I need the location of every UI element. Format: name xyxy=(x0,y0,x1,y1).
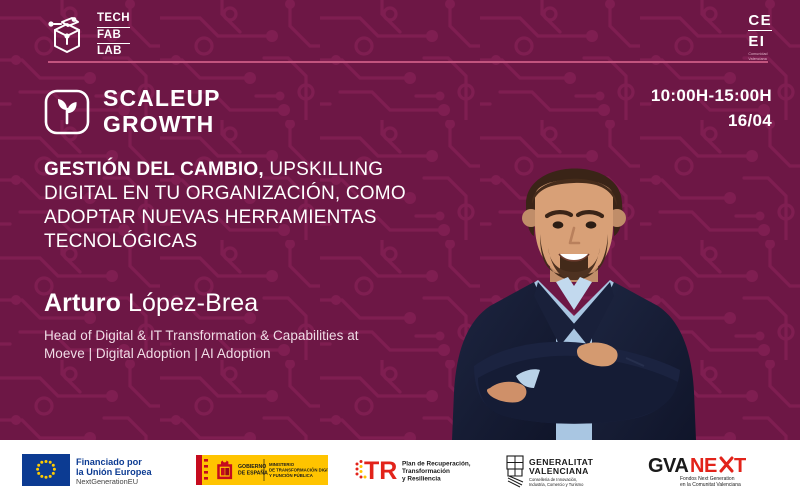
scaleup-growth-line-1: SCALEUP xyxy=(103,86,221,112)
eu-logo-line-2: la Unión Europea xyxy=(76,467,152,477)
speaker-first-name: Arturo xyxy=(44,289,121,317)
gva-next-mark-ne: NE xyxy=(690,455,717,477)
speaker-name: Arturo López-Brea xyxy=(44,288,434,318)
plan-recuperacion-line-1: Plan de Recuperación, xyxy=(402,461,471,468)
event-promo-banner: TECH FAB LAB CE EI Comunidad Valenciana xyxy=(0,0,800,500)
tech-fab-lab-wordmark: TECH FAB LAB xyxy=(97,12,130,59)
tech-fab-lab-box-icon xyxy=(44,14,90,58)
speaker-portrait xyxy=(430,130,720,440)
tech-fab-lab-logo: TECH FAB LAB xyxy=(44,12,130,59)
sprout-leaf-icon xyxy=(44,89,90,135)
plan-recuperacion-line-3: y Resiliencia xyxy=(402,476,441,483)
ministerio-line-3: Y FUNCIÓN PÚBLICA xyxy=(269,473,313,478)
gobierno-line-2: DE ESPAÑA xyxy=(238,470,268,477)
tech-fab-lab-line-3: LAB xyxy=(97,45,130,59)
tech-fab-lab-line-1: TECH xyxy=(97,12,130,26)
ceei-line-1: CE xyxy=(748,13,772,28)
tech-fab-lab-line-2: FAB xyxy=(97,27,130,44)
generalitat-sub-line-2: Industria, Comercio y Turismo xyxy=(529,482,584,487)
ceei-wordmark: CE EI xyxy=(748,13,772,49)
speaker-last-name: López-Brea xyxy=(121,289,258,317)
eu-logo-line-1: Financiado por xyxy=(76,457,142,467)
scaleup-growth-logo: SCALEUP GROWTH xyxy=(44,86,221,138)
header-divider-rule xyxy=(48,61,768,63)
talk-title-lead: GESTIÓN DEL CAMBIO, xyxy=(44,159,264,180)
banner-top-bar: TECH FAB LAB CE EI Comunidad Valenciana xyxy=(0,0,800,62)
speaker-role: Head of Digital & IT Transformation & Ca… xyxy=(44,327,374,364)
banner-copy-block: GESTIÓN DEL CAMBIO, UPSKILLING DIGITAL E… xyxy=(44,158,434,364)
scaleup-growth-wordmark: SCALEUP GROWTH xyxy=(103,86,221,138)
generalitat-crest-icon xyxy=(507,456,523,487)
generalitat-valenciana-logo: GENERALITAT VALENCIANA Conselleria de In… xyxy=(502,452,620,488)
gobierno-de-espana-logo: GOBIERNO DE ESPAÑA MINISTERIO DE TRANSFO… xyxy=(196,453,328,487)
ministerio-line-1: MINISTERIO xyxy=(269,462,295,467)
plan-recuperacion-line-2: Transformación xyxy=(402,468,450,475)
scaleup-growth-line-2: GROWTH xyxy=(103,112,221,138)
gva-next-sub-line-2: en la Comunitat Valenciana xyxy=(680,482,741,488)
event-schedule: 10:00H-15:00H 16/04 xyxy=(651,84,772,133)
gva-next-x-icon xyxy=(721,458,732,471)
ceei-logo: CE EI Comunidad Valenciana xyxy=(748,13,772,62)
talk-title: GESTIÓN DEL CAMBIO, UPSKILLING DIGITAL E… xyxy=(44,158,434,254)
plan-de-recuperacion-logo: TR Plan de Recuperación, Transformación … xyxy=(354,453,476,487)
plan-recuperacion-mark: TR xyxy=(364,457,397,485)
generalitat-line-2: VALENCIANA xyxy=(529,466,589,476)
ministerio-line-2: DE TRANSFORMACIÓN DIGITAL xyxy=(269,468,328,473)
gva-next-mark-t: T xyxy=(734,455,746,477)
ceei-line-2: EI xyxy=(748,30,772,49)
european-union-funding-logo: Financiado por la Unión Europea NextGene… xyxy=(22,450,170,490)
event-time: 10:00H-15:00H xyxy=(651,84,772,109)
banner-stage: TECH FAB LAB CE EI Comunidad Valenciana xyxy=(0,0,800,440)
gva-next-mark-gva: GVA xyxy=(648,455,688,477)
gobierno-line-1: GOBIERNO xyxy=(238,464,266,470)
gva-next-logo: GVA NE T Fondos Next Generation en la Co… xyxy=(646,452,778,488)
funding-logos-footer: Financiado por la Unión Europea NextGene… xyxy=(0,440,800,500)
eu-logo-line-3: NextGenerationEU xyxy=(76,477,138,486)
